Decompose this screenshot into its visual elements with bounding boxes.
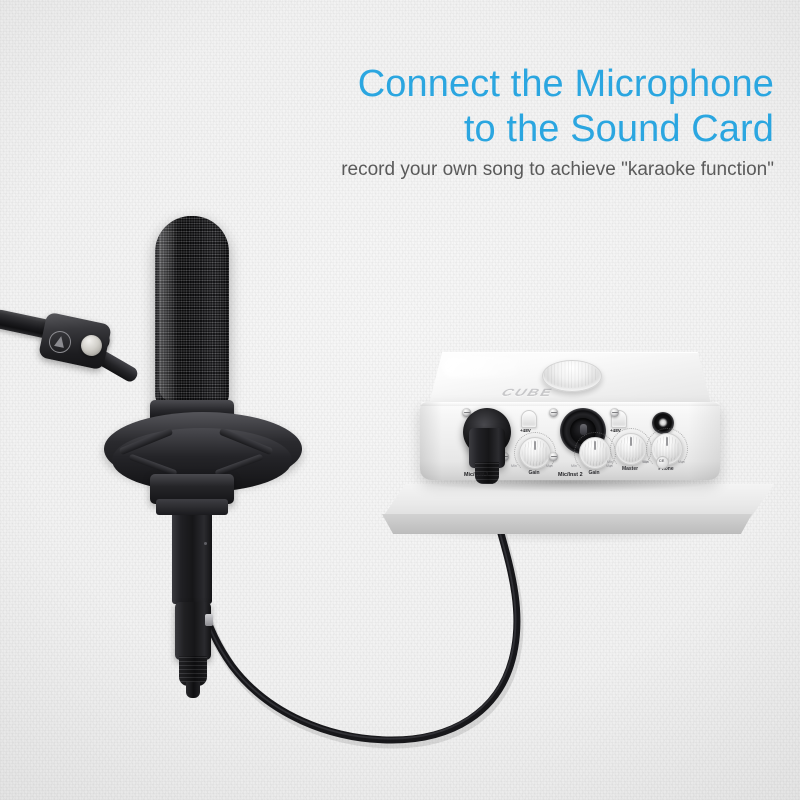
gain-knob-min-2: Min (571, 464, 577, 468)
front-panel-right-shade (688, 402, 720, 480)
compliance-mark-label: CE (656, 458, 667, 463)
volume-knob-ridges (544, 361, 598, 388)
gain-knob-min-1: Min (511, 464, 517, 468)
port-label-mic-inst-1: Mic/Inst 1 (464, 472, 489, 478)
panel-screw (610, 408, 619, 417)
microphone-assembly: AT 4050 (0, 190, 330, 620)
gain-knob-max-1: Max (546, 464, 553, 468)
xlr-cable-exit (186, 682, 200, 698)
panel-screw (549, 452, 558, 461)
sound-card-device: CUBE Mic/Inst 1 +48V Min Max Gain Mic/In… (420, 352, 720, 482)
front-panel-left-shade (420, 402, 442, 480)
microphone-grille-highlight (159, 220, 176, 402)
xlr-connector-body (175, 602, 211, 660)
gain-knob-max-2: Max (606, 464, 613, 468)
microphone-lower-body (172, 508, 212, 604)
shelf-front-edge (382, 514, 752, 534)
gain-knob-label-1: Gain (519, 470, 549, 476)
gain-knob-label-2: Gain (579, 470, 609, 476)
master-knob-label: Master (615, 466, 645, 472)
phone-knob-min: Min (643, 460, 649, 464)
product-marketing-image: Connect the Microphone to the Sound Card… (0, 0, 800, 800)
panel-screw (549, 408, 558, 417)
microphone-body-screw (204, 542, 207, 545)
xlr-connector-latch[interactable] (205, 614, 213, 626)
master-knob-min: Min (607, 460, 613, 464)
microphone-head (155, 216, 229, 406)
shock-mount-collar (156, 499, 228, 515)
phantom-power-switch-1[interactable] (521, 410, 537, 428)
front-panel-top-edge (420, 402, 720, 406)
phone-knob-max: Max (678, 460, 685, 464)
